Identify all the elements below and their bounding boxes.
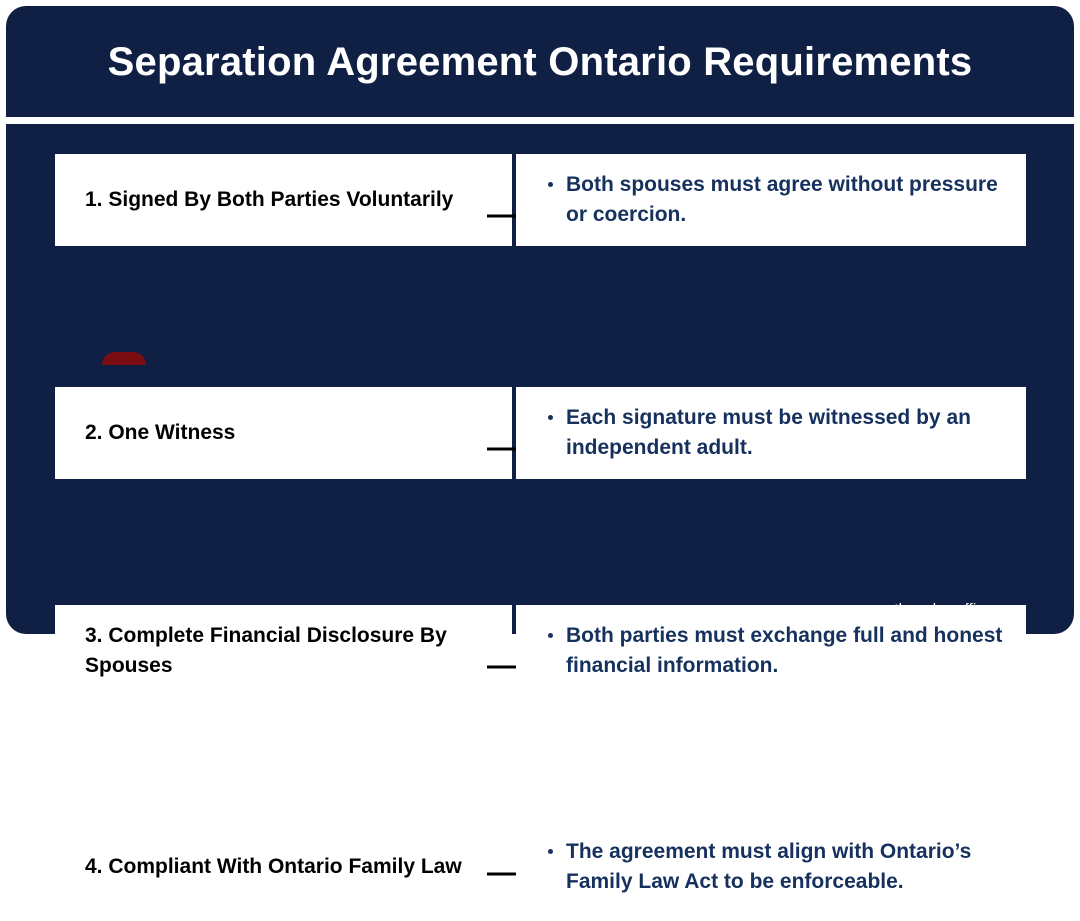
- requirement-label-1: 1. Signed By Both Parties Voluntarily: [85, 185, 453, 215]
- page-title: Separation Agreement Ontario Requirement…: [108, 40, 973, 84]
- title-band: Separation Agreement Ontario Requirement…: [6, 6, 1074, 117]
- requirement-cell-4: 4. Compliant With Ontario Family Law: [55, 813, 512, 921]
- requirement-cell-1: 1. Signed By Both Parties Voluntarily: [55, 154, 512, 246]
- list-item: Both spouses must agree without pressure…: [546, 170, 1012, 230]
- table-row: 1. Signed By Both Parties Voluntarily Bo…: [6, 124, 1074, 244]
- list-item: Both parties must exchange full and hone…: [546, 621, 1012, 681]
- detail-list-1: Both spouses must agree without pressure…: [546, 170, 1012, 230]
- detail-cell-4: The agreement must align with Ontario’s …: [516, 813, 1026, 921]
- table-row: 4. Compliant With Ontario Family Law The…: [6, 469, 1074, 599]
- body-band: 1. Signed By Both Parties Voluntarily Bo…: [6, 124, 1074, 634]
- table-row: 2. One Witness Each signature must be wi…: [6, 254, 1074, 374]
- requirement-label-4: 4. Compliant With Ontario Family Law: [85, 852, 462, 882]
- requirements-list: 1. Signed By Both Parties Voluntarily Bo…: [6, 124, 1074, 634]
- detail-list-3: Both parties must exchange full and hone…: [546, 621, 1012, 681]
- requirement-cell-3: 3. Complete Financial Disclosure By Spou…: [55, 605, 512, 697]
- footer-website-url[interactable]: www.athenalawoffice.com: [849, 601, 1026, 618]
- table-row: 3. Complete Financial Disclosure By Spou…: [6, 364, 1074, 484]
- detail-list-4: The agreement must align with Ontario’s …: [546, 837, 1012, 897]
- list-item: The agreement must align with Ontario’s …: [546, 837, 1012, 897]
- band-separator: [0, 117, 1080, 124]
- requirement-label-3: 3. Complete Financial Disclosure By Spou…: [85, 621, 512, 682]
- detail-cell-1: Both spouses must agree without pressure…: [516, 154, 1026, 246]
- infographic-slide: Separation Agreement Ontario Requirement…: [0, 0, 1080, 640]
- detail-cell-3: Both parties must exchange full and hone…: [516, 605, 1026, 697]
